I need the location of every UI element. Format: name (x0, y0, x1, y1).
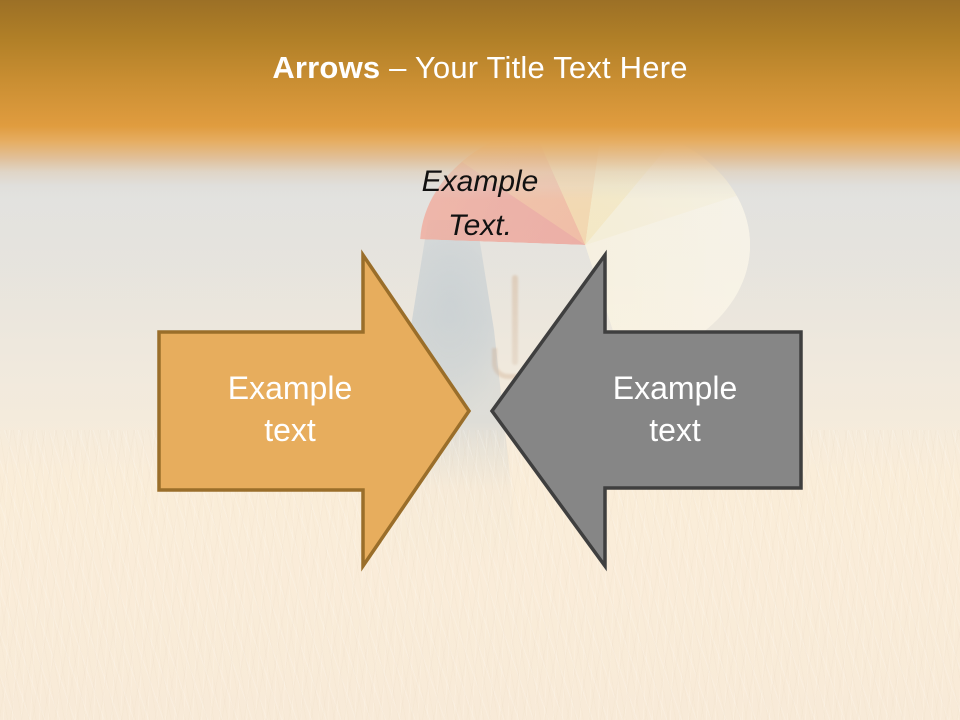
right-arrow-label: Example text (160, 367, 420, 451)
left-arrow-label: Example text (545, 367, 805, 451)
left-arrow-label-line-2: text (545, 409, 805, 451)
slide-canvas: Arrows – Your Title Text Here Example Te… (0, 0, 960, 720)
right-arrow-label-line-2: text (160, 409, 420, 451)
arrow-shapes-group (0, 0, 960, 720)
right-arrow-label-line-1: Example (160, 367, 420, 409)
left-arrow-label-line-1: Example (545, 367, 805, 409)
